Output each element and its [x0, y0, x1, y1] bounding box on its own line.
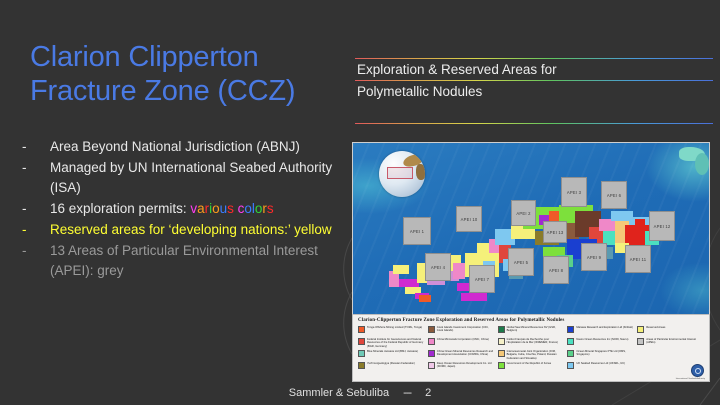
- legend-swatch: [567, 338, 574, 345]
- legend-item: China Minmetals Corporation (CMC, China): [428, 338, 495, 348]
- legend-label: Government of the Republic of Korea: [507, 362, 551, 365]
- gradient-rule-bottom: [355, 123, 713, 124]
- legend-item: Deep Ocean Resources Development Co. Ltd…: [428, 362, 495, 372]
- legend-label: Yuzhmorgeologiya (Russian Federation): [367, 362, 415, 365]
- claim-area: [453, 263, 465, 279]
- bullet-marker: -: [18, 220, 50, 240]
- multicolor-letter: o: [212, 201, 220, 216]
- globe-landmass: [416, 164, 425, 180]
- section-header-line2: Polymetallic Nodules: [355, 81, 713, 102]
- apei-label: APEI 8: [549, 268, 563, 273]
- legend-swatch: [567, 350, 574, 357]
- legend-label: Interoceanmetal Joint Organization (IOM,…: [507, 350, 565, 360]
- section-header: Exploration & Reserved Areas for Polymet…: [355, 58, 713, 124]
- island-shape: [695, 153, 709, 175]
- apei-label: APEI 12: [654, 224, 671, 229]
- legend-item: Marawa Research and Exploration Ltd (Kir…: [567, 326, 634, 336]
- legend-item: Global Sea Mineral Resources NV (GSR, Be…: [498, 326, 565, 336]
- footer-page-number: 2: [425, 387, 431, 399]
- multicolor-letter: s: [267, 201, 274, 216]
- multicolor-word-colors: colors: [238, 201, 274, 216]
- legend-label: Reserved Areas: [646, 326, 665, 329]
- legend-swatch: [498, 326, 505, 333]
- legend-label: UK Seabed Resources Ltd (UKSRL, UK): [576, 362, 625, 365]
- multicolor-letter: o: [244, 201, 252, 216]
- legend-swatch: [358, 326, 365, 333]
- list-item: - Area Beyond National Jurisdiction (ABN…: [18, 137, 348, 157]
- legend-label: Cook Islands Investment Corporation (CII…: [437, 326, 495, 333]
- apei-box: APEI 12: [649, 211, 675, 241]
- apei-label: APEI 6: [607, 193, 621, 198]
- legend-item: Tonga Offshore Mining Limited (TOML, Ton…: [358, 326, 425, 336]
- claim-area: [399, 279, 419, 287]
- apei-box: APEI 4: [425, 253, 451, 281]
- bullet-text-prefix: 16 exploration permits:: [50, 201, 190, 216]
- bullet-text: 16 exploration permits: various colors: [50, 199, 348, 219]
- legend-label: Areas of Particular Environmental Intere…: [646, 338, 704, 345]
- legend-item: Blue Minerals Jamaica Ltd (BMJ, Jamaica): [358, 350, 425, 360]
- section-header-line1: Exploration & Reserved Areas for: [355, 59, 713, 80]
- legend-item: Federal Institute for Geosciences and Na…: [358, 338, 425, 348]
- apei-box: APEI 2: [511, 200, 536, 226]
- legend-entries: Tonga Offshore Mining Limited (TOML, Ton…: [358, 326, 704, 372]
- apei-label: APEI 3: [567, 190, 581, 195]
- legend-swatch: [428, 338, 435, 345]
- legend-item: Yuzhmorgeologiya (Russian Federation): [358, 362, 425, 372]
- apei-box: APEI 11: [625, 245, 651, 273]
- list-item-multicolor: - 16 exploration permits: various colors: [18, 199, 348, 219]
- list-item-highlight: - Reserved areas for ‘developing nations…: [18, 220, 348, 240]
- globe-extent-box: [387, 167, 413, 179]
- legend-swatch: [428, 362, 435, 369]
- bullet-text: 13 Areas of Particular Environmental Int…: [50, 241, 348, 281]
- apei-label: APEI 10: [461, 217, 478, 222]
- apei-label: APEI 7: [475, 277, 489, 282]
- footer-separator: ---: [403, 387, 411, 399]
- legend-item: UK Seabed Resources Ltd (UKSRL, UK): [567, 362, 634, 372]
- bullet-marker: -: [18, 158, 50, 198]
- slide-footer: Sammler & Sebuliba --- 2: [0, 387, 720, 399]
- legend-swatch: [428, 350, 435, 357]
- legend-swatch: [358, 350, 365, 357]
- bullet-text: Reserved areas for ‘developing nations:’…: [50, 220, 348, 240]
- bullet-list: - Area Beyond National Jurisdiction (ABN…: [18, 137, 348, 282]
- multicolor-letter: s: [227, 201, 234, 216]
- apei-box: APEI 5: [508, 248, 534, 276]
- legend-label: Ocean Mineral Singapore PTE Ltd (OMS, Si…: [576, 350, 634, 357]
- apei-label: APEI 13: [547, 230, 564, 235]
- apei-box: APEI 1: [403, 217, 431, 245]
- apei-label: APEI 4: [431, 265, 445, 270]
- legend-item: Cook Islands Investment Corporation (CII…: [428, 326, 495, 336]
- bullet-marker: -: [18, 241, 50, 281]
- apei-box: APEI 8: [543, 256, 569, 284]
- legend-swatch: [428, 326, 435, 333]
- legend-label: Global Sea Mineral Resources NV (GSR, Be…: [507, 326, 565, 333]
- legend-label: China Minmetals Corporation (CMC, China): [437, 338, 489, 341]
- legend-label: Institut Français de Recherche pour l'Ex…: [507, 338, 565, 345]
- list-item-dim: - 13 Areas of Particular Environmental I…: [18, 241, 348, 281]
- apei-box: APEI 13: [543, 221, 567, 243]
- legend-swatch: [637, 338, 644, 345]
- list-item: - Managed by UN International Seabed Aut…: [18, 158, 348, 198]
- legend-item: Nauru Ocean Resources Inc (NORI, Nauru): [567, 338, 634, 348]
- legend-item: Government of the Republic of Korea: [498, 362, 565, 372]
- page-title-text: Clarion Clipperton Fracture Zone (CCZ): [30, 41, 295, 107]
- legend-item: Areas of Particular Environmental Intere…: [637, 338, 704, 348]
- legend-swatch: [637, 326, 644, 333]
- apei-box: APEI 7: [469, 265, 495, 293]
- legend-label: Nauru Ocean Resources Inc (NORI, Nauru): [576, 338, 628, 341]
- bullet-text: Managed by UN International Seabed Autho…: [50, 158, 348, 198]
- bullet-marker: -: [18, 199, 50, 219]
- claim-area: [461, 293, 487, 301]
- legend-label: China Ocean Mineral Resources Research a…: [437, 350, 495, 357]
- legend-swatch: [498, 350, 505, 357]
- isa-seal-icon: [691, 364, 704, 377]
- legend-swatch: [358, 338, 365, 345]
- bullet-marker: -: [18, 137, 50, 157]
- legend-swatch: [498, 362, 505, 369]
- legend-label: Deep Ocean Resources Development Co. Ltd…: [437, 362, 495, 369]
- apei-box: APEI 3: [561, 177, 587, 207]
- apei-box: APEI 9: [581, 243, 607, 271]
- legend-item: China Ocean Mineral Resources Research a…: [428, 350, 495, 360]
- bullet-text: Area Beyond National Jurisdiction (ABNJ): [50, 137, 348, 157]
- map-legend: Clarion-Clipperton Fracture Zone Explora…: [352, 314, 710, 382]
- legend-title: Clarion-Clipperton Fracture Zone Explora…: [358, 318, 704, 323]
- page-title: Clarion Clipperton Fracture Zone (CCZ): [30, 40, 360, 108]
- legend-item: Reserved Areas: [637, 326, 704, 336]
- legend-label: Tonga Offshore Mining Limited (TOML, Ton…: [367, 326, 422, 329]
- claim-area: [393, 265, 409, 274]
- multicolor-letter: a: [197, 201, 205, 216]
- apei-label: APEI 5: [514, 260, 528, 265]
- legend-label: Marawa Research and Exploration Ltd (Kir…: [576, 326, 632, 329]
- legend-item: Ocean Mineral Singapore PTE Ltd (OMS, Si…: [567, 350, 634, 360]
- multicolor-letter: u: [220, 201, 228, 216]
- legend-label: Federal Institute for Geosciences and Na…: [367, 338, 425, 348]
- legend-swatch: [358, 362, 365, 369]
- legend-item: Interoceanmetal Joint Organization (IOM,…: [498, 350, 565, 360]
- footer-authors: Sammler & Sebuliba: [289, 387, 389, 399]
- apei-label: APEI 9: [587, 255, 601, 260]
- isa-seal-note: International Seabed Authority: [676, 378, 705, 380]
- legend-spacer: [637, 350, 704, 360]
- apei-label: APEI 11: [630, 257, 646, 262]
- legend-swatch: [567, 326, 574, 333]
- globe-inset: [379, 151, 425, 197]
- legend-swatch: [498, 338, 505, 345]
- legend-label: Blue Minerals Jamaica Ltd (BMJ, Jamaica): [367, 350, 418, 353]
- apei-box: APEI 10: [456, 206, 482, 232]
- claim-area: [419, 295, 431, 302]
- multicolor-word-various: various: [190, 201, 234, 216]
- legend-item: Institut Français de Recherche pour l'Ex…: [498, 338, 565, 348]
- legend-swatch: [567, 362, 574, 369]
- apei-label: APEI 1: [410, 229, 424, 234]
- apei-label: APEI 2: [516, 211, 530, 216]
- apei-box: APEI 6: [601, 181, 627, 209]
